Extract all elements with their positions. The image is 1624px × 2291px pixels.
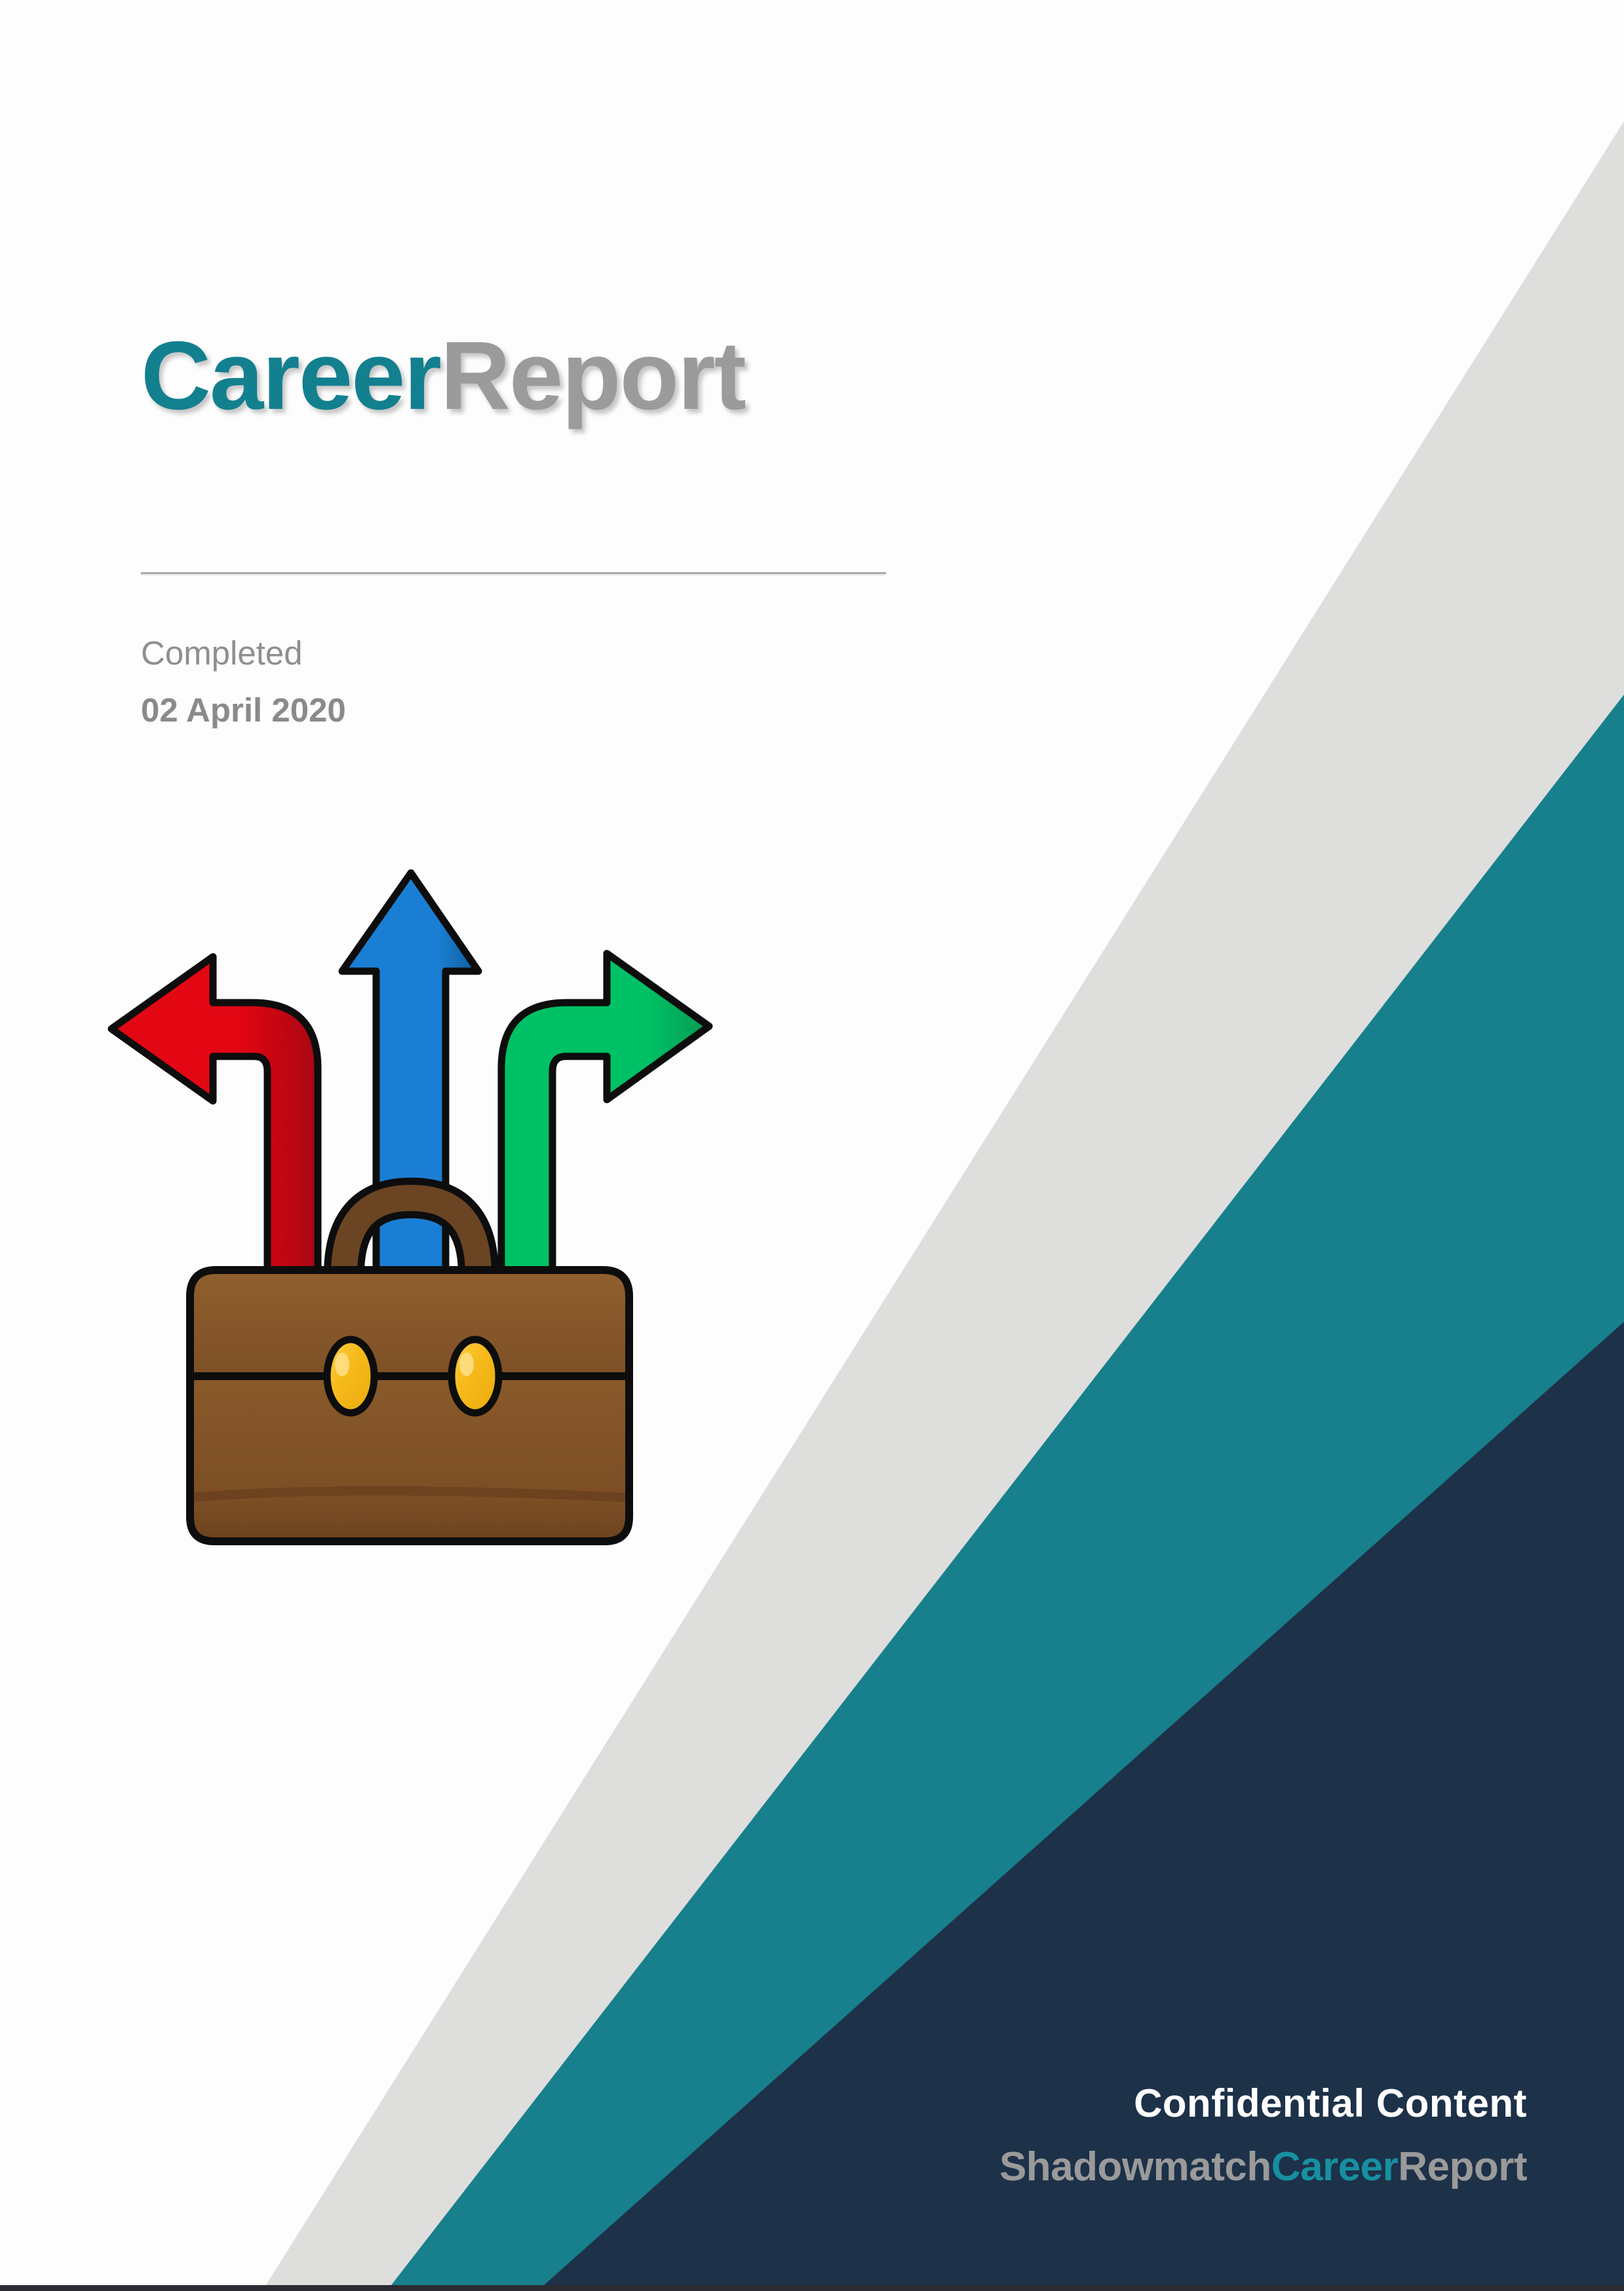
briefcase-flap (190, 1270, 629, 1376)
completion-date: 02 April 2020 (141, 688, 346, 732)
status-label: Completed (141, 631, 346, 675)
bottom-border-strip (0, 2285, 1624, 2291)
confidential-label: Confidential Content (999, 2081, 1527, 2127)
page-title-report: Report (440, 322, 745, 430)
page-title-block: CareerReport (141, 328, 1058, 425)
briefcase-body (190, 1376, 629, 1541)
arrow-left-red (111, 957, 318, 1271)
arrow-right-green (501, 953, 709, 1271)
footer-logo-report: Report (1398, 2144, 1527, 2189)
footer-logo-shadowmatch: Shadowmatch (999, 2144, 1271, 2189)
footer-logo-career: Career (1271, 2144, 1398, 2189)
briefcase-clasp-left (327, 1339, 374, 1413)
footer-logo: ShadowmatchCareerReport (999, 2141, 1527, 2194)
footer-block: Confidential Content ShadowmatchCareerRe… (999, 2081, 1527, 2194)
title-divider (141, 572, 886, 574)
cover-page: CareerReport Completed 02 April 2020 (0, 0, 1624, 2291)
briefcase-with-three-arrows-icon (85, 852, 734, 1592)
completion-meta: Completed 02 April 2020 (141, 631, 346, 733)
page-title-career: Career (141, 322, 440, 430)
page-title: CareerReport (141, 328, 1058, 425)
briefcase-clasp-right (452, 1339, 499, 1413)
